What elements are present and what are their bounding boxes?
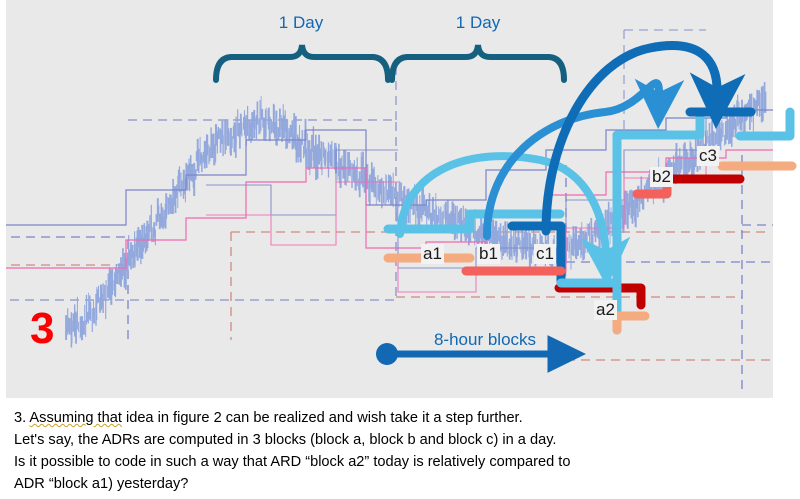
caption-line1-suffix: idea in figure 2 can be realized and wis… bbox=[122, 410, 523, 426]
candlestick-series bbox=[66, 82, 765, 348]
block-label-a1: a1 bbox=[421, 244, 444, 264]
caption-block: 3. Assuming that idea in figure 2 can be… bbox=[0, 398, 800, 499]
figure-number-marker: 3 bbox=[30, 306, 54, 352]
caption-spellcheck-phrase: Assuming that bbox=[29, 410, 121, 426]
caption-line-1: 3. Assuming that idea in figure 2 can be… bbox=[14, 408, 786, 429]
figure-root: 1 Day 1 Day 8-hour blocks a1 b1 c1 a2 b2… bbox=[0, 0, 800, 499]
caption-line-2: Let's say, the ADRs are computed in 3 bl… bbox=[14, 430, 786, 451]
chart-panel bbox=[6, 0, 773, 398]
caption-line1-prefix: 3. bbox=[14, 410, 29, 426]
block-label-a2: a2 bbox=[594, 300, 617, 320]
block-label-b1: b1 bbox=[477, 244, 500, 264]
block-label-c1: c1 bbox=[534, 244, 556, 264]
price-chart bbox=[6, 0, 773, 398]
block-label-b2: b2 bbox=[650, 167, 673, 187]
caption-line-3: Is it possible to code in such a way tha… bbox=[14, 452, 786, 473]
caption-line-4: ADR “block a1) yesterday? bbox=[14, 474, 786, 495]
dashed-projection-boxes bbox=[6, 30, 773, 390]
block-label-c3: c3 bbox=[697, 146, 719, 166]
